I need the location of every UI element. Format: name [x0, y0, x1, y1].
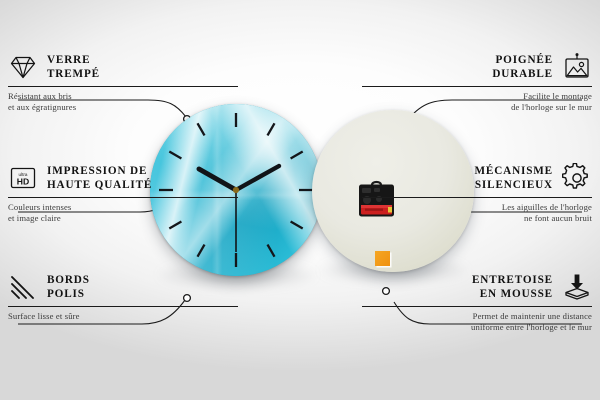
feature-entretoise-en-mousse[interactable]: ENTRETOISE EN MOUSSE Permet de maintenir… — [362, 272, 592, 334]
ultra-hd-icon: ultra HD — [8, 163, 38, 193]
feature-title: MÉCANISME SILENCIEUX — [474, 164, 553, 193]
polished-edges-icon — [8, 272, 38, 302]
foam-spacer — [375, 251, 390, 266]
minute-hand — [236, 166, 279, 190]
feature-header: ultra HD IMPRESSION DE HAUTE QUALITÉ — [8, 163, 238, 193]
feature-header: POIGNÉE DURABLE — [362, 52, 592, 82]
feature-header: ENTRETOISE EN MOUSSE — [362, 272, 592, 302]
feature-title: POIGNÉE DURABLE — [492, 53, 553, 82]
divider — [362, 306, 592, 307]
feature-poignee-durable[interactable]: POIGNÉE DURABLE Facilite le montage de l… — [362, 52, 592, 114]
divider — [362, 86, 592, 87]
feature-description: Surface lisse et sûre — [8, 311, 238, 322]
divider — [8, 86, 238, 87]
feature-description: Les aiguilles de l'horloge ne font aucun… — [362, 202, 592, 225]
feature-title: ENTRETOISE EN MOUSSE — [472, 273, 553, 302]
feature-bords-polis[interactable]: BORDS POLIS Surface lisse et sûre — [8, 272, 238, 322]
feature-verre-trempe[interactable]: VERRE TREMPÉ Résistant aux bris et aux é… — [8, 52, 238, 114]
feature-description: Couleurs intenses et image claire — [8, 202, 238, 225]
feature-header: MÉCANISME SILENCIEUX — [362, 163, 592, 193]
feature-description: Résistant aux bris et aux égratignures — [8, 91, 238, 114]
divider — [8, 197, 238, 198]
hanging-frame-icon — [562, 52, 592, 82]
diamond-icon — [8, 52, 38, 82]
feature-impression-haute-qualite[interactable]: ultra HD IMPRESSION DE HAUTE QUALITÉ Cou… — [8, 163, 238, 225]
feature-description: Permet de maintenir une distance uniform… — [362, 311, 592, 334]
divider — [8, 306, 238, 307]
feature-title: IMPRESSION DE HAUTE QUALITÉ — [47, 164, 152, 193]
infographic-stage: VERRE TREMPÉ Résistant aux bris et aux é… — [0, 0, 600, 400]
svg-text:HD: HD — [17, 177, 29, 187]
feature-header: VERRE TREMPÉ — [8, 52, 238, 82]
feature-header: BORDS POLIS — [8, 272, 238, 302]
feature-title: VERRE TREMPÉ — [47, 53, 100, 82]
foam-spacer-icon — [562, 272, 592, 302]
feature-title: BORDS POLIS — [47, 273, 90, 302]
feature-description: Facilite le montage de l'horloge sur le … — [362, 91, 592, 114]
feature-mecanisme-silencieux[interactable]: MÉCANISME SILENCIEUX Les aiguilles de l'… — [362, 163, 592, 225]
gear-icon — [562, 163, 592, 193]
divider — [362, 197, 592, 198]
